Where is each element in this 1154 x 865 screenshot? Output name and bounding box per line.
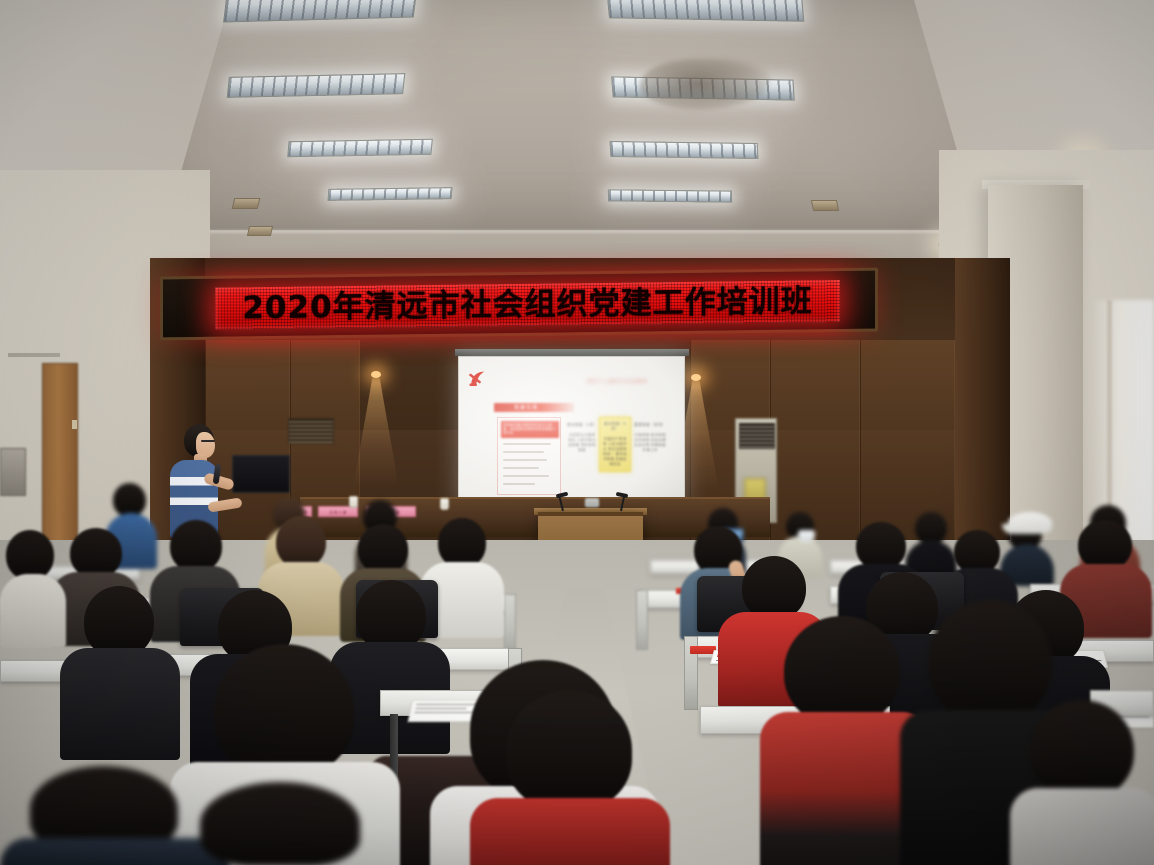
head (170, 520, 222, 572)
slide-column-1: 根本制度（1项） 马克思主义指导地位 人民代表大会制度 党的领导制度 (567, 423, 597, 453)
audience-member-foreground (170, 782, 420, 865)
desk-item (585, 498, 599, 507)
slide-column-2-heading: 基本制度（3项） (602, 422, 628, 432)
led-banner-text: 2020年清远市社会组织党建工作培训班 (242, 284, 812, 325)
ceiling-light (607, 0, 805, 22)
audience-member (0, 530, 66, 646)
head (358, 524, 408, 574)
eyeglasses (201, 440, 215, 442)
ceiling-light (227, 73, 406, 98)
desk-side-panel (636, 590, 648, 650)
head (856, 522, 906, 570)
led-screen: 2020年清远市社会组织党建工作培训班 (215, 280, 840, 330)
ac-grille (739, 423, 775, 449)
slide-column-3-heading: 重要制度（多项） (634, 423, 666, 428)
conference-room-photo: 2020年清远市社会组织党建工作培训班 党建引领 党的十九届四中全会精神 坚持和… (0, 0, 1154, 865)
slide-column-2: 基本制度（3项） 中国共产党领导 人民当家作主 依法治国有机统一 基本经济制度 … (599, 417, 631, 472)
head (200, 782, 360, 865)
head (438, 518, 486, 568)
torso (0, 574, 66, 648)
led-banner: 2020年清远市社会组织党建工作培训班 (160, 268, 878, 341)
cup (440, 498, 449, 510)
projection-screen: 党建引领 党的十九届四中全会精神 坚持和完善中国特色社会主义制度、推进国家治理体… (458, 356, 685, 507)
ceiling-light (608, 189, 732, 202)
slide-body-lines (503, 443, 555, 491)
slide-column-3-items: 行政体制 经济体制 文化体制 社会治理 生态文明 军事制度 外事工作 (634, 433, 666, 453)
head (1078, 520, 1132, 570)
ceiling-light (287, 139, 433, 158)
desk-side-panel (504, 594, 516, 652)
head (70, 528, 122, 578)
door-handle[interactable] (72, 420, 77, 429)
ceiling-vent (232, 198, 261, 209)
slide-column-2-items: 中国共产党领导 人民当家作主 依法治国有机统一 基本经济制度 民族区域自治 (602, 437, 628, 467)
torso (1010, 788, 1154, 865)
slide-column-1-items: 马克思主义指导地位 人民代表大会制度 党的领导制度 (567, 433, 597, 453)
presenter-laptop (232, 455, 290, 493)
slide-header-strip: 党建引领 (494, 403, 574, 412)
wood-panel (860, 340, 955, 540)
slide-column-1-heading: 根本制度（1项） (567, 423, 597, 428)
ceiling-light (328, 187, 453, 201)
slide-header-label: 党建引领 (514, 404, 538, 411)
wall-speaker (0, 448, 26, 496)
slide-callout: 坚持和完善中国特色社会主义制度、推进国家治理体系和治理能力现代化 (501, 421, 559, 438)
head (6, 530, 54, 580)
projector-screen-housing (455, 349, 689, 356)
torso (470, 798, 670, 865)
ceiling-light (610, 141, 759, 159)
torso (60, 648, 180, 760)
head (113, 483, 146, 517)
ceiling-vent (811, 200, 839, 211)
head (1030, 700, 1134, 800)
face-mask (798, 530, 815, 542)
audience-member (60, 586, 180, 758)
stage-pillar-right (955, 258, 1010, 548)
stage-spotlight (691, 374, 701, 381)
slide-text-box: 坚持和完善中国特色社会主义制度、推进国家治理体系和治理能力现代化 (497, 417, 561, 495)
hammer-and-sickle-emblem (468, 370, 489, 388)
head (742, 556, 806, 620)
ceiling-edge-line (150, 230, 1010, 233)
slide-top-right-label: 党的十九届四中全会精神 (581, 378, 653, 385)
wall-air-vent (288, 418, 334, 444)
presentation-slide: 党建引领 党的十九届四中全会精神 坚持和完善中国特色社会主义制度、推进国家治理体… (459, 357, 684, 506)
ceiling-vent (247, 226, 273, 236)
head (506, 690, 632, 810)
wood-panel (770, 340, 860, 540)
audience-member-foreground (1010, 700, 1154, 865)
head (784, 616, 900, 726)
head (276, 516, 326, 568)
ceiling-recess (150, 0, 1010, 230)
audience-member-foreground (470, 690, 670, 865)
wall-pipe (8, 353, 60, 357)
head (214, 644, 354, 776)
stage-spotlight (371, 371, 381, 378)
slide-column-3: 重要制度（多项） 行政体制 经济体制 文化体制 社会治理 生态文明 军事制度 外… (634, 423, 666, 453)
